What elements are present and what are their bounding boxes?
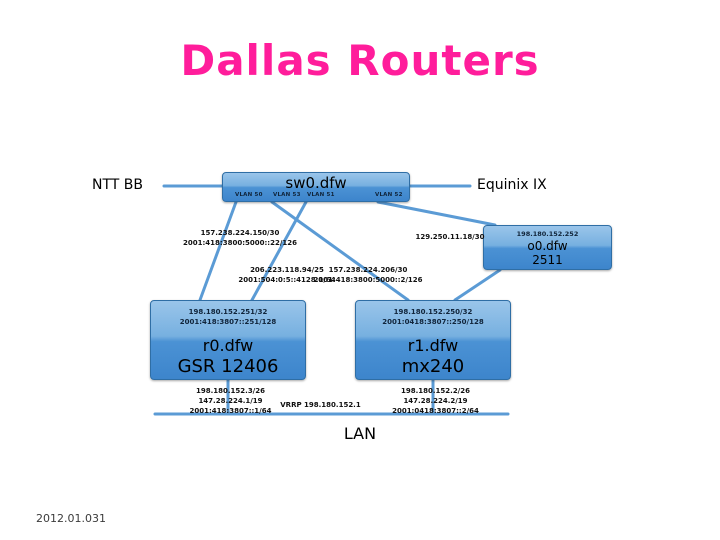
link-vlan50-r0	[200, 202, 236, 300]
annotation-ntt-upper-v6: 2001:418:3800:5000::22/126	[165, 238, 315, 248]
vlan-label-50: VLAN 50	[235, 192, 263, 198]
annotation-lan-right-line2: 147.28.224.2/19	[363, 396, 508, 406]
r1-loopback-block: 198.180.152.250/32 2001:0418:3807::250/1…	[356, 301, 510, 327]
annotation-oob-link-v4: 129.250.11.18/30	[395, 232, 505, 242]
link-vlan51-r0	[252, 202, 306, 300]
o0-device-model: 2511	[484, 253, 611, 267]
annotation-ntt-lower-v6: 2001:418:3800:5000::2/126	[313, 275, 423, 285]
vlan-label-52: VLAN 52	[375, 192, 403, 198]
annotation-lan-left-line1: 198.180.152.3/26	[158, 386, 303, 396]
r0-loopback-v4: 198.180.152.251/32	[151, 307, 305, 317]
node-r1-dfw[interactable]: 198.180.152.250/32 2001:0418:3807::250/1…	[355, 300, 511, 380]
annotation-ntt-lower: 157.238.224.206/30 2001:418:3800:5000::2…	[313, 265, 423, 285]
external-label-ntt-bb: NTT BB	[92, 177, 143, 193]
annotation-ntt-upper: 157.238.224.150/30 2001:418:3800:5000::2…	[165, 228, 315, 248]
annotation-lan-right-line3: 2001:0418:3807::2/64	[363, 406, 508, 416]
node-sw0-dfw[interactable]: sw0.dfw VLAN 50 VLAN 53 VLAN 51 VLAN 52	[222, 172, 410, 202]
annotation-lan-right: 198.180.152.2/26 147.28.224.2/19 2001:04…	[363, 386, 508, 416]
r1-device-model: mx240	[356, 356, 510, 378]
slide-canvas: Dallas Routers NTT BB Equinix IX L	[0, 0, 720, 540]
r1-loopback-v4: 198.180.152.250/32	[356, 307, 510, 317]
sw0-device-name: sw0.dfw	[223, 173, 409, 192]
vlan-label-53: VLAN 53	[273, 192, 301, 198]
node-r0-dfw[interactable]: 198.180.152.251/32 2001:418:3807::251/12…	[150, 300, 306, 380]
annotation-vrrp: VRRP 198.180.152.1	[268, 400, 373, 410]
lan-label: LAN	[0, 424, 720, 443]
r1-device-name: r1.dfw	[356, 327, 510, 356]
link-o0-to-r1	[455, 270, 500, 300]
slide-footer-date: 2012.01.031	[36, 512, 106, 525]
page-title: Dallas Routers	[0, 36, 720, 85]
r0-loopback-v6: 2001:418:3807::251/128	[151, 317, 305, 327]
r1-loopback-v6: 2001:0418:3807::250/128	[356, 317, 510, 327]
external-label-equinix-ix: Equinix IX	[477, 177, 547, 193]
r0-device-model: GSR 12406	[151, 356, 305, 378]
annotation-lan-right-line1: 198.180.152.2/26	[363, 386, 508, 396]
link-vlan52-o0	[378, 202, 495, 225]
annotation-ntt-lower-v4: 157.238.224.206/30	[313, 265, 423, 275]
sw0-vlan-row: VLAN 50 VLAN 53 VLAN 51 VLAN 52	[223, 192, 411, 202]
annotation-oob-link: 129.250.11.18/30	[395, 232, 505, 242]
annotation-ntt-upper-v4: 157.238.224.150/30	[165, 228, 315, 238]
r0-loopback-block: 198.180.152.251/32 2001:418:3807::251/12…	[151, 301, 305, 327]
r0-device-name: r0.dfw	[151, 327, 305, 356]
vlan-label-51: VLAN 51	[307, 192, 335, 198]
link-vlan53-r1	[272, 202, 408, 300]
